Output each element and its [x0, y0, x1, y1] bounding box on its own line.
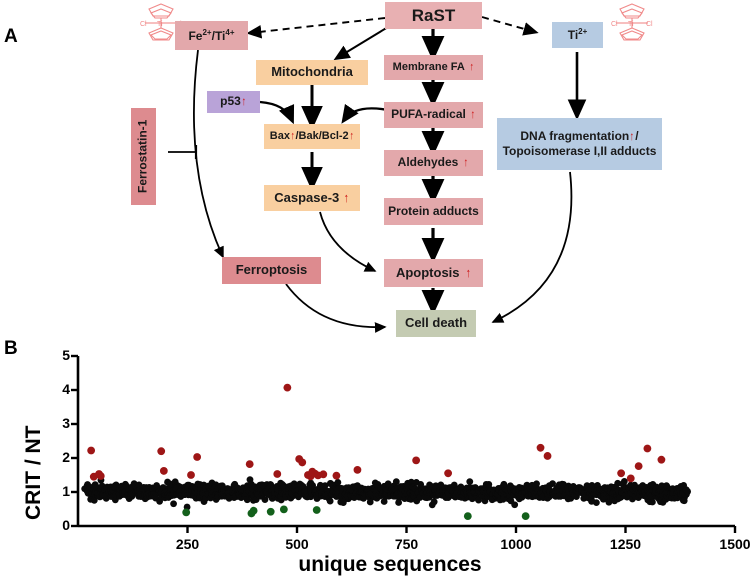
y-tick-label: 0 [56, 517, 70, 533]
y-tick-label: 5 [56, 347, 70, 363]
y-tick-label: 4 [56, 381, 70, 397]
y-tick-label: 1 [56, 483, 70, 499]
scatter-point-green [250, 507, 258, 515]
scatter-point-green [313, 506, 321, 514]
scatter-point-red [160, 467, 168, 475]
scatter-point-red [644, 445, 652, 453]
scatter-point-black [334, 479, 341, 486]
scatter-point-black [649, 499, 656, 506]
x-tick-label: 1000 [494, 536, 538, 552]
scatter-point-red [157, 447, 165, 455]
plot-points [81, 384, 691, 520]
scatter-point-red [354, 466, 362, 474]
x-tick-label: 1250 [604, 536, 648, 552]
x-tick-label: 250 [166, 536, 210, 552]
scatter-point-green [280, 505, 288, 513]
scatter-point-black [431, 498, 438, 505]
x-tick-label: 750 [385, 536, 429, 552]
scatter-point-green [464, 512, 472, 520]
scatter-point-black [511, 501, 518, 508]
scatter-point-red [617, 469, 625, 477]
scatter-point-red [635, 462, 643, 470]
y-tick-label: 2 [56, 449, 70, 465]
scatter-point-red [87, 447, 95, 455]
scatter-point-black [593, 499, 600, 506]
scatter-point-red [658, 456, 666, 464]
scatter-point-red [412, 456, 420, 464]
x-tick-label: 500 [275, 536, 319, 552]
scatter-point-black [395, 499, 402, 506]
x-tick-label: 1500 [713, 536, 750, 552]
scatter-point-red [333, 472, 341, 480]
scatter-point-red [246, 460, 254, 468]
scatter-point-green [182, 509, 190, 517]
scatter-point-red [537, 444, 545, 452]
scatter-point-black [466, 478, 473, 485]
plot-axes [71, 356, 735, 533]
scatter-point-red [298, 459, 306, 467]
scatter-plot[interactable] [0, 0, 750, 582]
scatter-point-black [170, 500, 177, 507]
scatter-point-black [621, 478, 628, 485]
y-tick-label: 3 [56, 415, 70, 431]
scatter-point-red [193, 453, 201, 461]
scatter-point-black [327, 498, 334, 505]
scatter-point-red [97, 472, 105, 480]
scatter-point-red [319, 470, 327, 478]
scatter-point-black [683, 487, 690, 494]
scatter-point-red [273, 470, 281, 478]
scatter-point-red [283, 384, 291, 392]
scatter-point-green [267, 508, 275, 516]
scatter-point-red [444, 469, 452, 477]
scatter-point-red [187, 471, 195, 479]
scatter-point-red [544, 452, 552, 460]
figure-root: A Cl Ti Cl [0, 0, 750, 582]
scatter-point-red [627, 475, 635, 483]
scatter-point-black [485, 481, 492, 488]
scatter-point-black [681, 497, 688, 504]
scatter-point-green [522, 512, 530, 520]
